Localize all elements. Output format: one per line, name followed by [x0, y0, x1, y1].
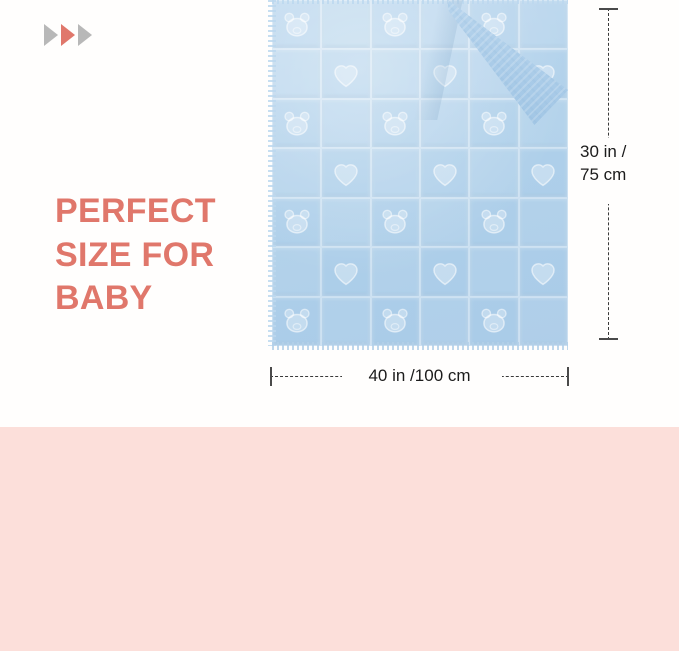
blanket-texture-cell	[420, 247, 469, 296]
arrow-decoration	[44, 24, 92, 46]
blanket-texture-cell	[272, 247, 321, 296]
blanket-motif	[280, 206, 313, 239]
blanket-folded-corner	[448, 0, 568, 125]
height-label-line-2: 75 cm	[580, 164, 676, 187]
blanket-texture-cell	[519, 198, 568, 247]
blanket-texture-cell	[272, 198, 321, 247]
blanket-texture-cell	[321, 247, 370, 296]
height-dimension-cap-top	[599, 8, 618, 10]
blanket-texture-cell	[469, 198, 518, 247]
triangle-right-icon-2	[61, 24, 75, 46]
blanket-motif	[527, 156, 560, 189]
triangle-right-icon-1	[44, 24, 58, 46]
blanket-texture-cell	[321, 148, 370, 197]
blanket-texture-cell	[321, 0, 370, 49]
blanket-texture-cell	[469, 247, 518, 296]
blanket-texture-cell	[519, 148, 568, 197]
blanket-texture-cell	[272, 49, 321, 98]
blanket-texture-cell	[272, 297, 321, 346]
blanket-texture-cell	[321, 198, 370, 247]
blanket-texture-cell	[519, 297, 568, 346]
blanket-texture-cell	[371, 49, 420, 98]
blanket-texture-cell	[420, 198, 469, 247]
blanket-texture-cell	[321, 99, 370, 148]
blanket-texture-cell	[272, 148, 321, 197]
triangle-right-icon-3	[78, 24, 92, 46]
blanket-motif	[428, 255, 461, 288]
blanket-texture-cell	[371, 198, 420, 247]
blanket-texture-cell	[321, 49, 370, 98]
blanket-motif	[527, 255, 560, 288]
blanket-texture-cell	[469, 148, 518, 197]
blanket-motif	[280, 107, 313, 140]
headline-line-2: SIZE FOR	[55, 234, 270, 278]
blanket-motif	[379, 107, 412, 140]
blanket-texture-cell	[420, 148, 469, 197]
blanket-texture-cell	[371, 99, 420, 148]
blanket-texture-cell	[519, 247, 568, 296]
blanket-texture-cell	[371, 247, 420, 296]
height-dimension-label: 30 in / 75 cm	[580, 141, 676, 187]
blanket-motif	[379, 206, 412, 239]
blanket-image	[272, 0, 568, 346]
page-title: PERFECT SIZE FOR BABY	[55, 190, 270, 321]
height-dimension-cap-bottom	[599, 338, 618, 340]
blanket-motif	[428, 156, 461, 189]
blanket-texture-cell	[371, 148, 420, 197]
infographic-canvas: PERFECT SIZE FOR BABY 30 in / 75	[0, 0, 679, 651]
width-dimension-label: 40 in /100 cm	[270, 366, 569, 386]
blanket-texture-cell	[321, 297, 370, 346]
blanket-texture-cell	[272, 0, 321, 49]
headline-line-3: BABY	[55, 277, 270, 321]
blanket-texture-cell	[272, 99, 321, 148]
blanket-texture-cell	[420, 297, 469, 346]
blanket-motif	[280, 305, 313, 338]
blanket-motif	[280, 8, 313, 41]
blanket-motif	[379, 305, 412, 338]
blanket-fold-texture	[448, 0, 568, 125]
blanket-texture-cell	[371, 0, 420, 49]
blanket-texture-cell	[469, 297, 518, 346]
headline-line-1: PERFECT	[55, 190, 270, 234]
height-label-line-1: 30 in /	[580, 141, 676, 164]
blanket-motif	[477, 305, 510, 338]
blanket-motif	[329, 156, 362, 189]
blanket-motif	[329, 58, 362, 91]
blanket-texture-cell	[371, 297, 420, 346]
blanket-motif	[477, 206, 510, 239]
blanket-motif	[329, 255, 362, 288]
features-section: Warm Skin-Friendly	[0, 427, 679, 651]
blanket-motif	[379, 8, 412, 41]
size-section: PERFECT SIZE FOR BABY 30 in / 75	[0, 0, 679, 427]
